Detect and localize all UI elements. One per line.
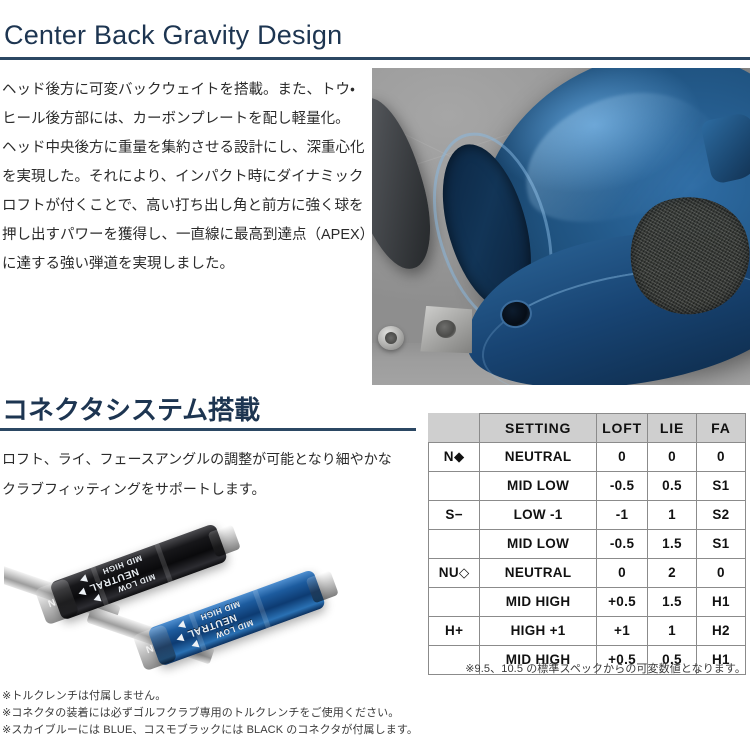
connector-band [154,543,172,582]
weight-bolt [378,326,404,350]
gravity-line: ヘッド中央後方に重量を集約させる設計にし、深重心化 [2,134,364,163]
page-title-connector: コネクタシステム搭載 [2,390,260,427]
cell-loft: -0.5 [596,530,647,559]
weight-bracket-hole [436,320,456,338]
cell-setting: MID LOW [480,472,597,501]
gravity-line: ヒール後方部には、カーボンプレートを配し軽量化。 [2,105,364,134]
heading-divider-1 [0,57,750,60]
cell-loft: -0.5 [596,472,647,501]
cell-fa: S1 [696,530,745,559]
footnote-item: ※コネクタの装着には必ずゴルフクラブ専用のトルクレンチをご使用ください。 [2,705,442,722]
connector-band [252,589,270,628]
cell-fa: S1 [696,472,745,501]
table-row: S− LOW -1 -1 1 S2 [429,501,746,530]
cell-loft: +0.5 [596,588,647,617]
table-note: ※9.5、10.5 の標準スペックからの可変数値となります。 [428,660,746,676]
blue-connector: N MID HIGH NEUTRAL MID LOW [147,569,326,667]
cell-code: H+ [429,617,480,646]
cell-setting: MID HIGH [480,588,597,617]
cell-code [429,472,480,501]
gravity-line: に達する強い弾道を実現しました。 [2,250,364,279]
table-row: N◆ NEUTRAL 0 0 0 [429,443,746,472]
heading-divider-2 [0,428,416,431]
table-row: NU◇ NEUTRAL 0 2 0 [429,559,746,588]
cell-lie: 1 [648,617,696,646]
table-row: MID HIGH +0.5 1.5 H1 [429,588,746,617]
cell-fa: H1 [696,588,745,617]
cell-lie: 0 [648,443,696,472]
page-title-gravity: Center Back Gravity Design [4,20,342,51]
black-connector: N MID HIGH NEUTRAL MID LOW [49,523,228,621]
cell-setting: LOW -1 [480,501,597,530]
table-row: H+ HIGH +1 +1 1 H2 [429,617,746,646]
arrow-icon [175,634,184,644]
table-header-code [429,414,480,443]
cell-loft: +1 [596,617,647,646]
connector-photo: N MID HIGH NEUTRAL MID LOW N MID HIGH NE… [4,512,414,682]
table-body: N◆ NEUTRAL 0 0 0 MID LOW -0.5 0.5 S1 S− … [429,443,746,675]
footnote-item: ※トルクレンチは付属しません。 [2,688,442,705]
connector-line: クラブフィッティングをサポートします。 [2,474,402,504]
connector-tip [208,524,241,557]
footnotes: ※トルクレンチは付属しません。 ※コネクタの装着には必ずゴルフクラブ専用のトルク… [2,688,442,739]
product-feature-page: Center Back Gravity Design ヘッド後方に可変バックウェ… [0,0,750,750]
table-header-setting: SETTING [480,414,597,443]
table-header-lie: LIE [648,414,696,443]
cell-lie: 1 [648,501,696,530]
gravity-line: ヘッド後方に可変バックウェイトを搭載。また、トウ・ [2,76,364,105]
gravity-line: ロフトが付くことで、高い打ち出し角と前方に強く球を [2,192,364,221]
cell-lie: 2 [648,559,696,588]
gravity-description: ヘッド後方に可変バックウェイトを搭載。また、トウ・ ヒール後方部には、カーボンプ… [2,76,364,279]
footnote-item: ※スカイブルーには BLUE、コスモブラックには BLACK のコネクタが付属し… [2,722,442,739]
cell-code: N◆ [429,443,480,472]
table-row: MID LOW -0.5 1.5 S1 [429,530,746,559]
driver-head-render [372,68,750,385]
cell-loft: 0 [596,559,647,588]
cell-code [429,530,480,559]
cell-lie: 0.5 [648,472,696,501]
cell-fa: 0 [696,443,745,472]
gravity-line: 押し出すパワーを獲得し、一直線に最高到達点（APEX） [2,221,364,250]
table-header-row: SETTING LOFT LIE FA [429,414,746,443]
cell-setting: NEUTRAL [480,559,597,588]
cell-setting: MID LOW [480,530,597,559]
cell-setting: HIGH +1 [480,617,597,646]
connector-description: ロフト、ライ、フェースアングルの調整が可能となり細やかな クラブフィッティングを… [2,444,402,504]
table-header-fa: FA [696,414,745,443]
cell-code [429,588,480,617]
cell-loft: -1 [596,501,647,530]
connector-tip [306,570,339,603]
cell-fa: S2 [696,501,745,530]
cell-lie: 1.5 [648,588,696,617]
cell-fa: H2 [696,617,745,646]
cell-fa: 0 [696,559,745,588]
cell-code: NU◇ [429,559,480,588]
cell-setting: NEUTRAL [480,443,597,472]
table-header-loft: LOFT [596,414,647,443]
cell-code: S− [429,501,480,530]
gravity-line: を実現した。それにより、インパクト時にダイナミック [2,163,364,192]
connector-line: ロフト、ライ、フェースアングルの調整が可能となり細やかな [2,444,402,474]
cell-loft: 0 [596,443,647,472]
table-row: MID LOW -0.5 0.5 S1 [429,472,746,501]
cell-lie: 1.5 [648,530,696,559]
arrow-icon [77,588,86,598]
settings-table: SETTING LOFT LIE FA N◆ NEUTRAL 0 0 0 MID… [428,413,746,675]
